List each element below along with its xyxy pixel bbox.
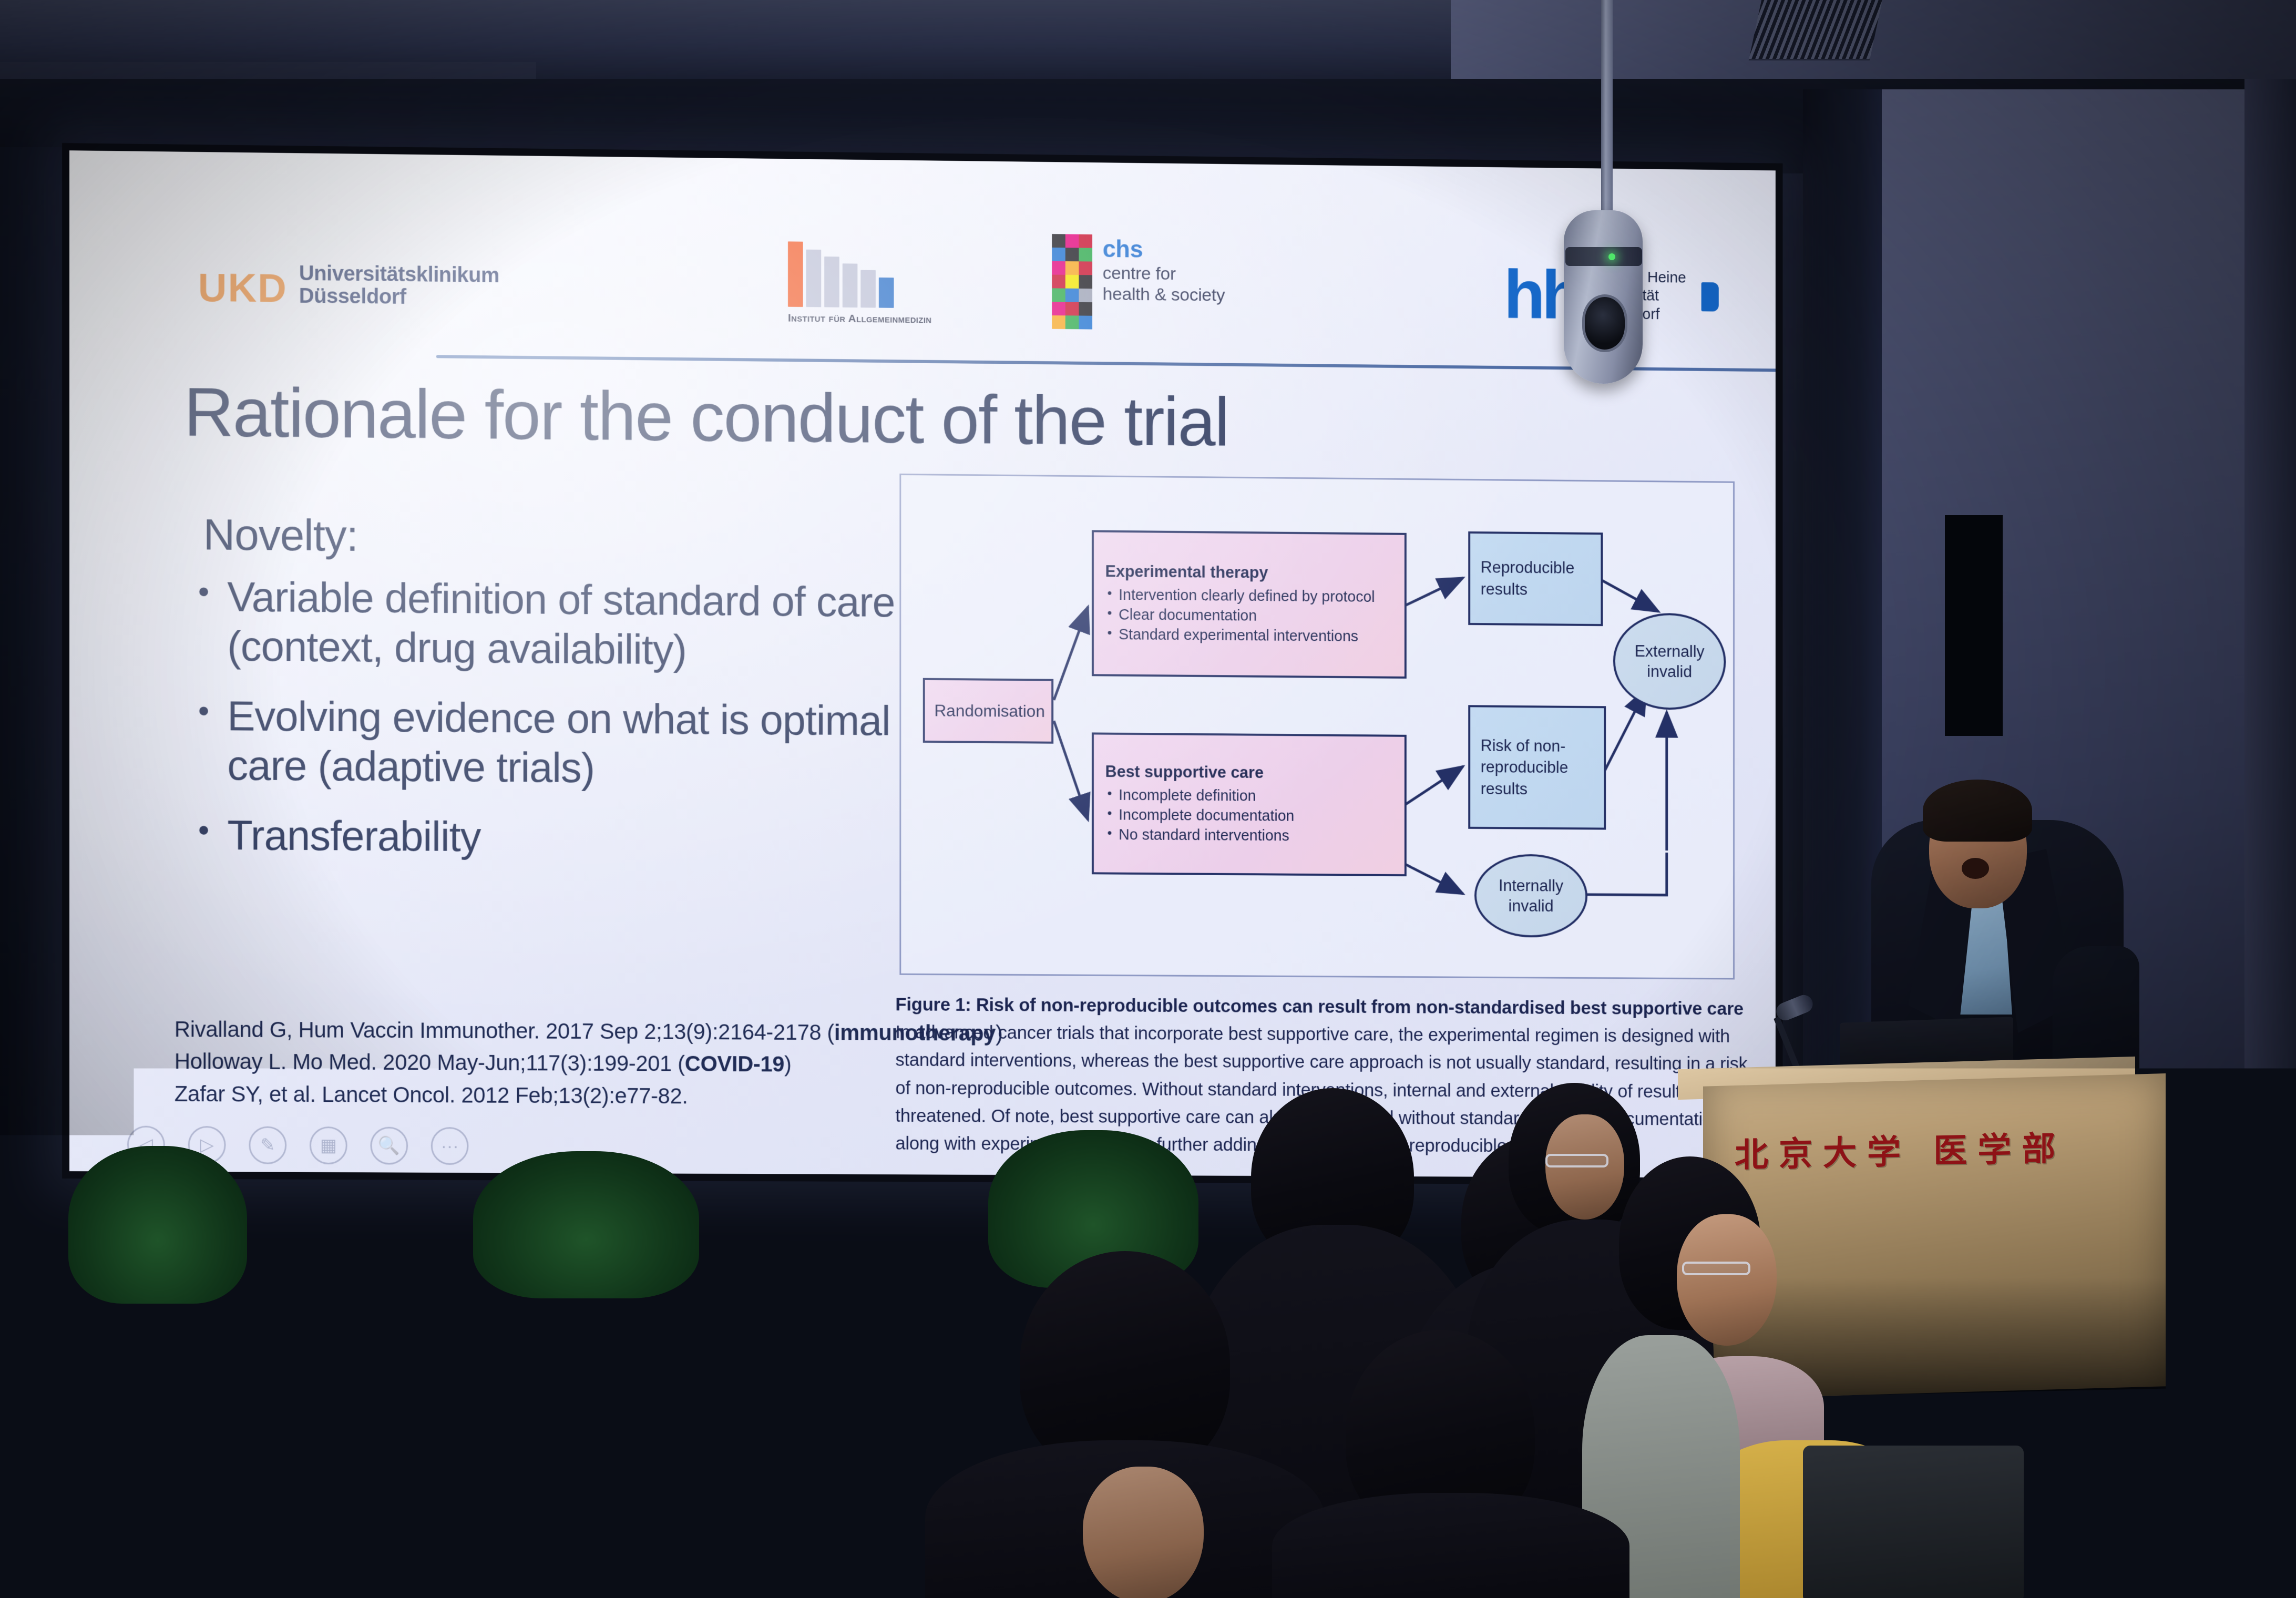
podium-sign-text: 北京大学 医学部 [1735,1121,2066,1176]
wall-right-edge [2244,79,2296,1193]
diagram-node-externally-invalid: Externally invalid [1613,613,1726,710]
audience-face [1083,1467,1204,1598]
chs-line2: centre for [1103,263,1225,285]
reference-line: Zafar SY, et al. Lancet Oncol. 2012 Feb;… [175,1078,1003,1113]
projection-screen: UKD Universitätsklinikum Düsseldorf ifam… [62,143,1783,1185]
node-label: Randomisation [934,699,1042,722]
all-slides-icon[interactable]: ▦ [310,1126,347,1164]
water-bottle [951,1235,982,1333]
drink-cup [915,1398,956,1477]
ceiling-air-vent [1749,0,1884,60]
diagram-node-best-supportive-care: Best supportive care Incomplete definiti… [1092,732,1407,876]
wall-black-banner [1945,515,2003,736]
drink-cup [820,1524,861,1598]
chs-wordmark: chs [1103,234,1225,264]
camera-mount-rod [1601,0,1613,221]
slide-logo-bar: UKD Universitätsklinikum Düsseldorf ifam… [69,182,1776,326]
logo-ukd: UKD Universitätsklinikum Düsseldorf [198,261,499,310]
diagram-node-randomisation: Randomisation [923,678,1053,744]
chs-grid-icon [1052,234,1092,329]
water-bottle [852,1283,882,1377]
node-item: Intervention clearly defined by protocol [1105,585,1393,607]
node-label: Internally invalid [1477,875,1585,916]
ifam-bars-icon: ifam [788,241,931,308]
node-item: Standard experimental interventions [1105,624,1393,647]
eyeglasses-icon [1682,1262,1750,1275]
figure-caption-title: Figure 1: Risk of non-reproducible outco… [895,994,1743,1019]
audience-shoulders [1272,1493,1629,1598]
logo-chs: chs centre for health & society [1065,234,1225,331]
node-item: Incomplete documentation [1105,805,1393,827]
ifam-subtitle: Institut für Allgemeinmedizin [788,312,931,326]
diagram-node-risk-non-reproducible: Risk of non-reproducible results [1468,705,1606,829]
bullet-list: • Variable definition of standard of car… [198,572,970,884]
node-label: Externally invalid [1615,641,1724,682]
reference-line: Rivalland G, Hum Vaccin Immunother. 2017… [175,1013,1003,1049]
diagram-node-experimental-therapy: Experimental therapy Intervention clearl… [1092,530,1407,678]
camera-ring [1565,247,1642,266]
reference-line: Holloway L. Mo Med. 2020 May-Jun;117(3):… [175,1045,1003,1081]
list-item: • Evolving evidence on what is optimal c… [198,691,970,796]
drink-cup [89,1298,130,1382]
drink-cup [778,1351,819,1425]
node-heading: Best supportive care [1105,762,1393,783]
water-bottle [570,1522,601,1598]
camera-lens-icon [1582,294,1627,352]
ukd-line2: Düsseldorf [299,285,499,310]
ukd-wordmark: UKD [198,270,288,308]
chs-line3: health & society [1103,284,1225,306]
bullet-text: Transferability [227,811,480,862]
diagram-node-internally-invalid: Internally invalid [1474,854,1587,938]
logo-ifam: ifam Institut für Allgemeinmedizin [788,241,931,326]
node-label: Reproducible results [1481,557,1591,601]
slide-title: Rationale for the conduct of the trial [184,372,1229,462]
node-heading: Experimental therapy [1105,562,1393,583]
figure-diagram: Randomisation Experimental therapy Inter… [899,474,1735,980]
bullet-text: Evolving evidence on what is optimal car… [227,691,969,795]
diagram-node-reproducible-results: Reproducible results [1468,531,1603,626]
hhu-dot-icon [1701,282,1719,312]
list-item: • Variable definition of standard of car… [198,572,970,677]
audience-face [1677,1214,1777,1346]
node-item: No standard interventions [1105,825,1393,847]
bullet-marker-icon: • [198,572,210,671]
presentation-slide: UKD Universitätsklinikum Düsseldorf ifam… [69,150,1776,1178]
ukd-line1: Universitätsklinikum [299,262,499,287]
planter-foliage [208,1314,355,1393]
planter-foliage [237,1430,457,1530]
bullet-text: Variable definition of standard of care … [227,572,969,678]
references-block: Rivalland G, Hum Vaccin Immunother. 2017… [175,1013,1003,1113]
more-options-icon[interactable]: ··· [431,1127,469,1165]
speaker-hair [1923,780,2032,842]
zoom-in-icon[interactable]: 🔍 [370,1127,408,1165]
pen-tool-icon[interactable]: ✎ [249,1126,286,1164]
bullet-marker-icon: • [198,691,210,791]
list-item: • Transferability [198,810,970,865]
node-label: Risk of non-reproducible results [1481,735,1594,801]
planter-foliage [536,1277,689,1361]
water-bottle [16,1272,46,1372]
eyeglasses-icon [1545,1154,1608,1167]
camera-led-icon [1608,253,1615,260]
bullet-marker-icon: • [198,810,210,859]
chair-back [1803,1446,2024,1598]
node-item: Clear documentation [1105,605,1393,627]
section-label-novelty: Novelty: [203,509,358,561]
screenshot-stage: UKD Universitätsklinikum Düsseldorf ifam… [0,0,2296,1598]
speaker-mouth [1962,858,1989,879]
node-item: Incomplete definition [1105,785,1393,807]
